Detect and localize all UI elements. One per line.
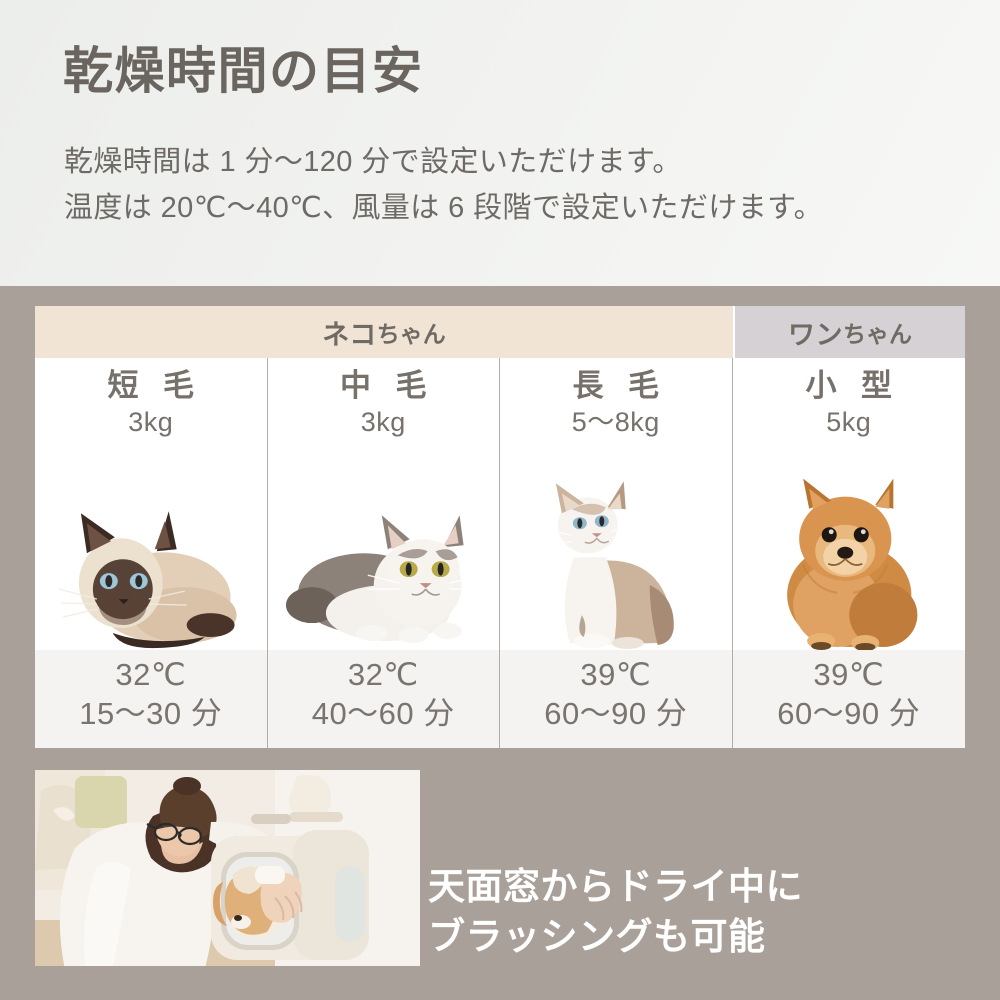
caption-line-2: ブラッシングも可能 (428, 912, 803, 962)
intro-text: 乾燥時間は 1 分〜120 分で設定いただけます。 温度は 20℃〜40℃、風量… (64, 140, 823, 232)
drying-time-table: ネコちゃん ワンちゃん 短 毛 3kg (35, 306, 965, 748)
duration-value: 60〜90 分 (500, 695, 732, 733)
column-head-long-hair: 長 毛 5〜8kg (500, 358, 732, 454)
result-short-hair: 32℃ 15〜30 分 (35, 650, 267, 748)
temperature-value: 39℃ (733, 655, 966, 695)
table-column-medium-hair: 中 毛 3kg (268, 358, 501, 748)
temperature-value: 32℃ (268, 655, 500, 695)
longhair-ragdoll-cat-photo (500, 454, 732, 650)
caption-line-1: 天面窓からドライ中に (428, 862, 803, 912)
weight-label: 3kg (268, 406, 500, 438)
column-head-small-dog: 小 型 5kg (733, 358, 966, 454)
siamese-cat-photo (35, 454, 267, 650)
breed-label: 小 型 (733, 367, 966, 406)
intro-line-2: 温度は 20℃〜40℃、風量は 6 段階で設定いただけます。 (64, 186, 823, 232)
tabby-white-cat-photo (268, 454, 500, 650)
duration-value: 15〜30 分 (35, 695, 267, 733)
pomeranian-dog-photo (733, 454, 966, 650)
species-header-dog: ワンちゃん (735, 306, 965, 358)
species-dog-suffix: ちゃん (843, 315, 912, 349)
species-cat-suffix: ちゃん (377, 315, 446, 349)
column-head-short-hair: 短 毛 3kg (35, 358, 267, 454)
duration-value: 60〜90 分 (733, 695, 966, 733)
temperature-value: 39℃ (500, 655, 732, 695)
breed-label: 中 毛 (268, 367, 500, 406)
bottom-caption: 天面窓からドライ中に ブラッシングも可能 (428, 862, 803, 963)
page-title: 乾燥時間の目安 (63, 44, 424, 99)
result-small-dog: 39℃ 60〜90 分 (733, 650, 966, 748)
intro-line-1: 乾燥時間は 1 分〜120 分で設定いただけます。 (64, 140, 823, 186)
column-head-medium-hair: 中 毛 3kg (268, 358, 500, 454)
breed-label: 長 毛 (500, 367, 732, 406)
species-dog-main: ワン (788, 313, 843, 352)
species-header-cat: ネコちゃん (35, 306, 735, 358)
infographic-page: 乾燥時間の目安 乾燥時間は 1 分〜120 分で設定いただけます。 温度は 20… (0, 0, 1000, 1000)
breed-label: 短 毛 (35, 367, 267, 406)
species-cat-main: ネコ (322, 313, 376, 352)
table-column-long-hair: 長 毛 5〜8kg (500, 358, 733, 748)
table-column-small-dog: 小 型 5kg (733, 358, 966, 748)
species-header-row: ネコちゃん ワンちゃん (35, 306, 965, 358)
temperature-value: 32℃ (35, 655, 267, 695)
intro-section: 乾燥時間の目安 乾燥時間は 1 分〜120 分で設定いただけます。 温度は 20… (0, 0, 1000, 286)
result-long-hair: 39℃ 60〜90 分 (500, 650, 732, 748)
woman-brushing-dog-in-dryer-photo (35, 770, 420, 966)
table-column-short-hair: 短 毛 3kg (35, 358, 268, 748)
weight-label: 5kg (733, 406, 966, 438)
duration-value: 40〜60 分 (268, 695, 500, 733)
weight-label: 3kg (35, 406, 267, 438)
table-columns: 短 毛 3kg (35, 358, 965, 748)
weight-label: 5〜8kg (500, 406, 732, 438)
result-medium-hair: 32℃ 40〜60 分 (268, 650, 500, 748)
